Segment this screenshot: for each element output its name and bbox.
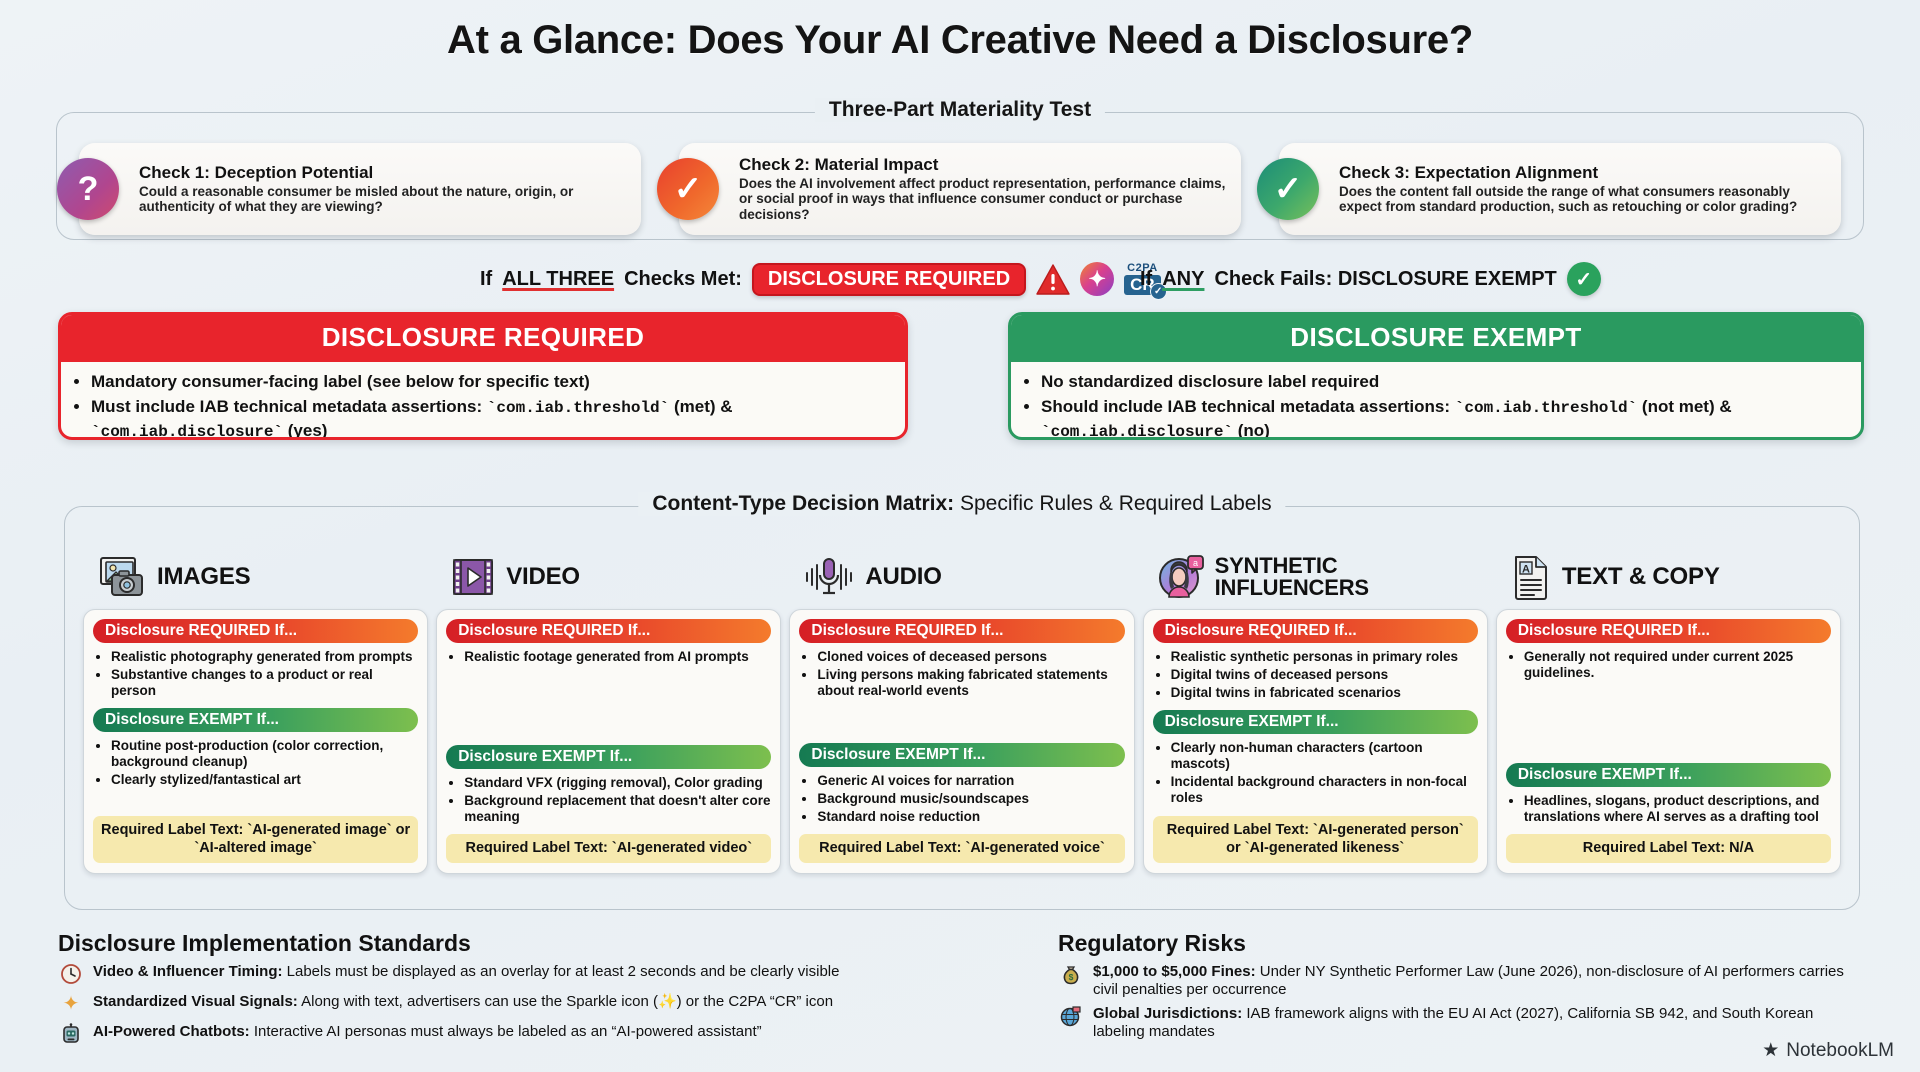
column-label: AUDIO [865,565,941,589]
check-2-title: Check 2: Material Impact [739,155,1227,175]
disclosure-required-pill: DISCLOSURE REQUIRED [752,263,1026,296]
verdict-required: If ALL THREE Checks Met: DISCLOSURE REQU… [480,262,1161,296]
green-check-icon: ✓ [1567,262,1601,296]
list-item: Mandatory consumer-facing label (see bel… [91,371,905,394]
risks-row: Global Jurisdictions: IAB framework alig… [1058,1003,1868,1041]
check-card-2: ✓ Check 2: Material Impact Does the AI i… [679,143,1241,235]
check-1-description: Could a reasonable consumer be misled ab… [139,184,627,215]
required-list: Realistic photography generated from pro… [93,649,418,701]
exempt-list: Clearly non-human characters (cartoon ma… [1153,740,1478,808]
matrix-column-audio: AUDIO Disclosure REQUIRED If... Cloned v… [789,545,1134,874]
required-label-text: Required Label Text: `AI-generated video… [446,834,771,863]
disclosure-exempt-list: No standardized disclosure label require… [1011,371,1861,440]
column-header-synthetic-influencers: a SYNTHETIC INFLUENCERS [1143,545,1488,609]
band-exempt: Disclosure EXEMPT If... [1153,710,1478,734]
band-required: Disclosure REQUIRED If... [1506,619,1831,643]
risks-text: $1,000 to $5,000 Fines: Under NY Synthet… [1093,961,1868,999]
check-2-description: Does the AI involvement affect product r… [739,176,1227,223]
influencer-icon: a [1157,553,1205,601]
column-label: TEXT & COPY [1562,565,1720,589]
required-list: Realistic footage generated from AI prom… [446,649,771,667]
list-item: Generic AI voices for narration [817,773,1124,789]
matrix-legend: Content-Type Decision Matrix: Specific R… [638,492,1285,516]
list-item: Must include IAB technical metadata asse… [91,396,905,440]
list-item: Headlines, slogans, product descriptions… [1524,793,1831,825]
clock-icon [58,961,84,987]
standards-text: Standardized Visual Signals: Along with … [93,991,833,1011]
list-item: Routine post-production (color correctio… [111,738,418,770]
text-copy-icon: A [1510,554,1552,600]
risks-text: Global Jurisdictions: IAB framework alig… [1093,1003,1868,1041]
column-label: VIDEO [506,565,580,589]
list-item: Incidental background characters in non-… [1171,774,1478,806]
exempt-list: Routine post-production (color correctio… [93,738,418,790]
materiality-panel: Three-Part Materiality Test ? Check 1: D… [56,112,1864,240]
video-icon [450,555,496,599]
matrix-column-images: IMAGES Disclosure REQUIRED If... Realist… [83,545,428,874]
verdict-row: If ALL THREE Checks Met: DISCLOSURE REQU… [0,258,1920,300]
risks-row: $ $1,000 to $5,000 Fines: Under NY Synth… [1058,961,1868,999]
band-required: Disclosure REQUIRED If... [1153,619,1478,643]
matrix-column-text-copy: A TEXT & COPY Disclosure REQUIRED If... … [1496,545,1841,874]
check-mark-icon: ✓ [657,158,719,220]
matrix-panel: Content-Type Decision Matrix: Specific R… [64,506,1860,910]
infographic-page: At a Glance: Does Your AI Creative Need … [0,0,1920,1072]
svg-text:A: A [1522,564,1530,576]
notebooklm-logo-icon: ★ [1762,1039,1779,1062]
check-3-title: Check 3: Expectation Alignment [1339,163,1827,183]
required-list: Generally not required under current 202… [1506,649,1831,683]
page-title: At a Glance: Does Your AI Creative Need … [0,0,1920,63]
column-header-audio: AUDIO [789,545,1134,609]
standards-row: ✦ Standardized Visual Signals: Along wit… [58,991,1048,1017]
check-card-1: ? Check 1: Deception Potential Could a r… [79,143,641,235]
spacer [1506,690,1831,763]
verdict-left-mid: Checks Met: [624,268,742,291]
exempt-list: Generic AI voices for narration Backgrou… [799,773,1124,827]
band-required: Disclosure REQUIRED If... [93,619,418,643]
list-item: Cloned voices of deceased persons [817,649,1124,665]
matrix-card-images: Disclosure REQUIRED If... Realistic phot… [83,609,428,874]
matrix-card-audio: Disclosure REQUIRED If... Cloned voices … [789,609,1134,874]
standards-text: AI-Powered Chatbots: Interactive AI pers… [93,1021,762,1041]
list-item: Realistic synthetic personas in primary … [1171,649,1478,665]
verdict-left-prefix: If [480,268,492,291]
standards-heading: Disclosure Implementation Standards [58,930,1048,957]
check-1-title: Check 1: Deception Potential [139,163,627,183]
regulatory-risks: Regulatory Risks $ $1,000 to $5,000 Fine… [1058,930,1868,1045]
matrix-card-text-copy: Disclosure REQUIRED If... Generally not … [1496,609,1841,874]
exempt-list: Standard VFX (rigging removal), Color gr… [446,775,771,827]
required-label-text: Required Label Text: `AI-generated voice… [799,834,1124,863]
matrix-card-synthetic-influencers: Disclosure REQUIRED If... Realistic synt… [1143,609,1488,874]
brand-footer: ★ NotebookLM [1762,1039,1894,1062]
band-exempt: Disclosure EXEMPT If... [446,745,771,769]
check-mark-icon: ✓ [1257,158,1319,220]
disclosure-required-heading: DISCLOSURE REQUIRED [61,315,905,362]
spacer [799,708,1124,743]
spacer [446,674,771,745]
column-label: SYNTHETIC INFLUENCERS [1215,555,1488,600]
verdict-left-emphasis: ALL THREE [502,268,614,291]
band-exempt: Disclosure EXEMPT If... [1506,763,1831,787]
list-item: No standardized disclosure label require… [1041,371,1861,394]
required-list: Realistic synthetic personas in primary … [1153,649,1478,703]
brand-name: NotebookLM [1786,1040,1894,1062]
matrix-column-video: VIDEO Disclosure REQUIRED If... Realisti… [436,545,781,874]
exempt-list: Headlines, slogans, product descriptions… [1506,793,1831,827]
verdict-right-rest: Check Fails: DISCLOSURE EXEMPT [1214,268,1556,291]
money-bag-icon: $ [1058,961,1084,987]
disclosure-required-box: DISCLOSURE REQUIRED Mandatory consumer-f… [58,312,908,440]
verdict-right-emphasis: ANY [1162,268,1204,291]
question-mark-icon: ? [57,158,119,220]
list-item: Standard noise reduction [817,809,1124,825]
disclosure-required-list: Mandatory consumer-facing label (see bel… [61,371,905,440]
list-item: Living persons making fabricated stateme… [817,667,1124,699]
warning-triangle-icon [1036,264,1070,295]
list-item: Standard VFX (rigging removal), Color gr… [464,775,771,791]
standards-row: Video & Influencer Timing: Labels must b… [58,961,1048,987]
band-exempt: Disclosure EXEMPT If... [93,708,418,732]
list-item: Realistic photography generated from pro… [111,649,418,665]
standards-text: Video & Influencer Timing: Labels must b… [93,961,839,981]
required-label-text: Required Label Text: `AI-generated image… [93,816,418,863]
verdict-exempt: If ANY Check Fails: DISCLOSURE EXEMPT ✓ [1140,262,1601,296]
list-item: Should include IAB technical metadata as… [1041,396,1861,440]
sparkle-icon: ✦ [58,991,84,1017]
list-item: Background music/soundscapes [817,791,1124,807]
list-item: Background replacement that doesn't alte… [464,793,771,825]
audio-icon [803,555,855,599]
list-item: Generally not required under current 202… [1524,649,1831,681]
check-card-3: ✓ Check 3: Expectation Alignment Does th… [1279,143,1841,235]
sparkle-icon: ✦ [1080,262,1114,296]
column-header-video: VIDEO [436,545,781,609]
matrix-columns: IMAGES Disclosure REQUIRED If... Realist… [83,545,1841,874]
materiality-legend: Three-Part Materiality Test [815,98,1105,122]
column-label: IMAGES [157,565,250,589]
globe-icon [1058,1003,1084,1029]
risks-heading: Regulatory Risks [1058,930,1868,957]
list-item: Clearly non-human characters (cartoon ma… [1171,740,1478,772]
band-required: Disclosure REQUIRED If... [446,619,771,643]
svg-text:a: a [1193,558,1198,568]
disclosure-exempt-box: DISCLOSURE EXEMPT No standardized disclo… [1008,312,1864,440]
check-card-row: ? Check 1: Deception Potential Could a r… [79,143,1841,235]
verdict-right-prefix: If [1140,268,1152,291]
standards-row: AI-Powered Chatbots: Interactive AI pers… [58,1021,1048,1047]
matrix-column-synthetic-influencers: a SYNTHETIC INFLUENCERS Disclosure REQUI… [1143,545,1488,874]
required-label-text: Required Label Text: N/A [1506,834,1831,863]
robot-icon [58,1021,84,1047]
required-list: Cloned voices of deceased persons Living… [799,649,1124,701]
matrix-card-video: Disclosure REQUIRED If... Realistic foot… [436,609,781,874]
band-required: Disclosure REQUIRED If... [799,619,1124,643]
required-label-text: Required Label Text: `AI-generated perso… [1153,816,1478,863]
column-header-text-copy: A TEXT & COPY [1496,545,1841,609]
list-item: Digital twins of deceased persons [1171,667,1478,683]
band-exempt: Disclosure EXEMPT If... [799,743,1124,767]
list-item: Realistic footage generated from AI prom… [464,649,771,665]
list-item: Clearly stylized/fantastical art [111,772,418,788]
images-icon [97,555,147,599]
list-item: Digital twins in fabricated scenarios [1171,685,1478,701]
svg-text:$: $ [1069,972,1074,982]
column-header-images: IMAGES [83,545,428,609]
disclosure-exempt-heading: DISCLOSURE EXEMPT [1011,315,1861,362]
implementation-standards: Disclosure Implementation Standards Vide… [58,930,1048,1051]
bottom-section: Disclosure Implementation Standards Vide… [0,930,1920,1072]
check-3-description: Does the content fall outside the range … [1339,184,1827,215]
list-item: Substantive changes to a product or real… [111,667,418,699]
